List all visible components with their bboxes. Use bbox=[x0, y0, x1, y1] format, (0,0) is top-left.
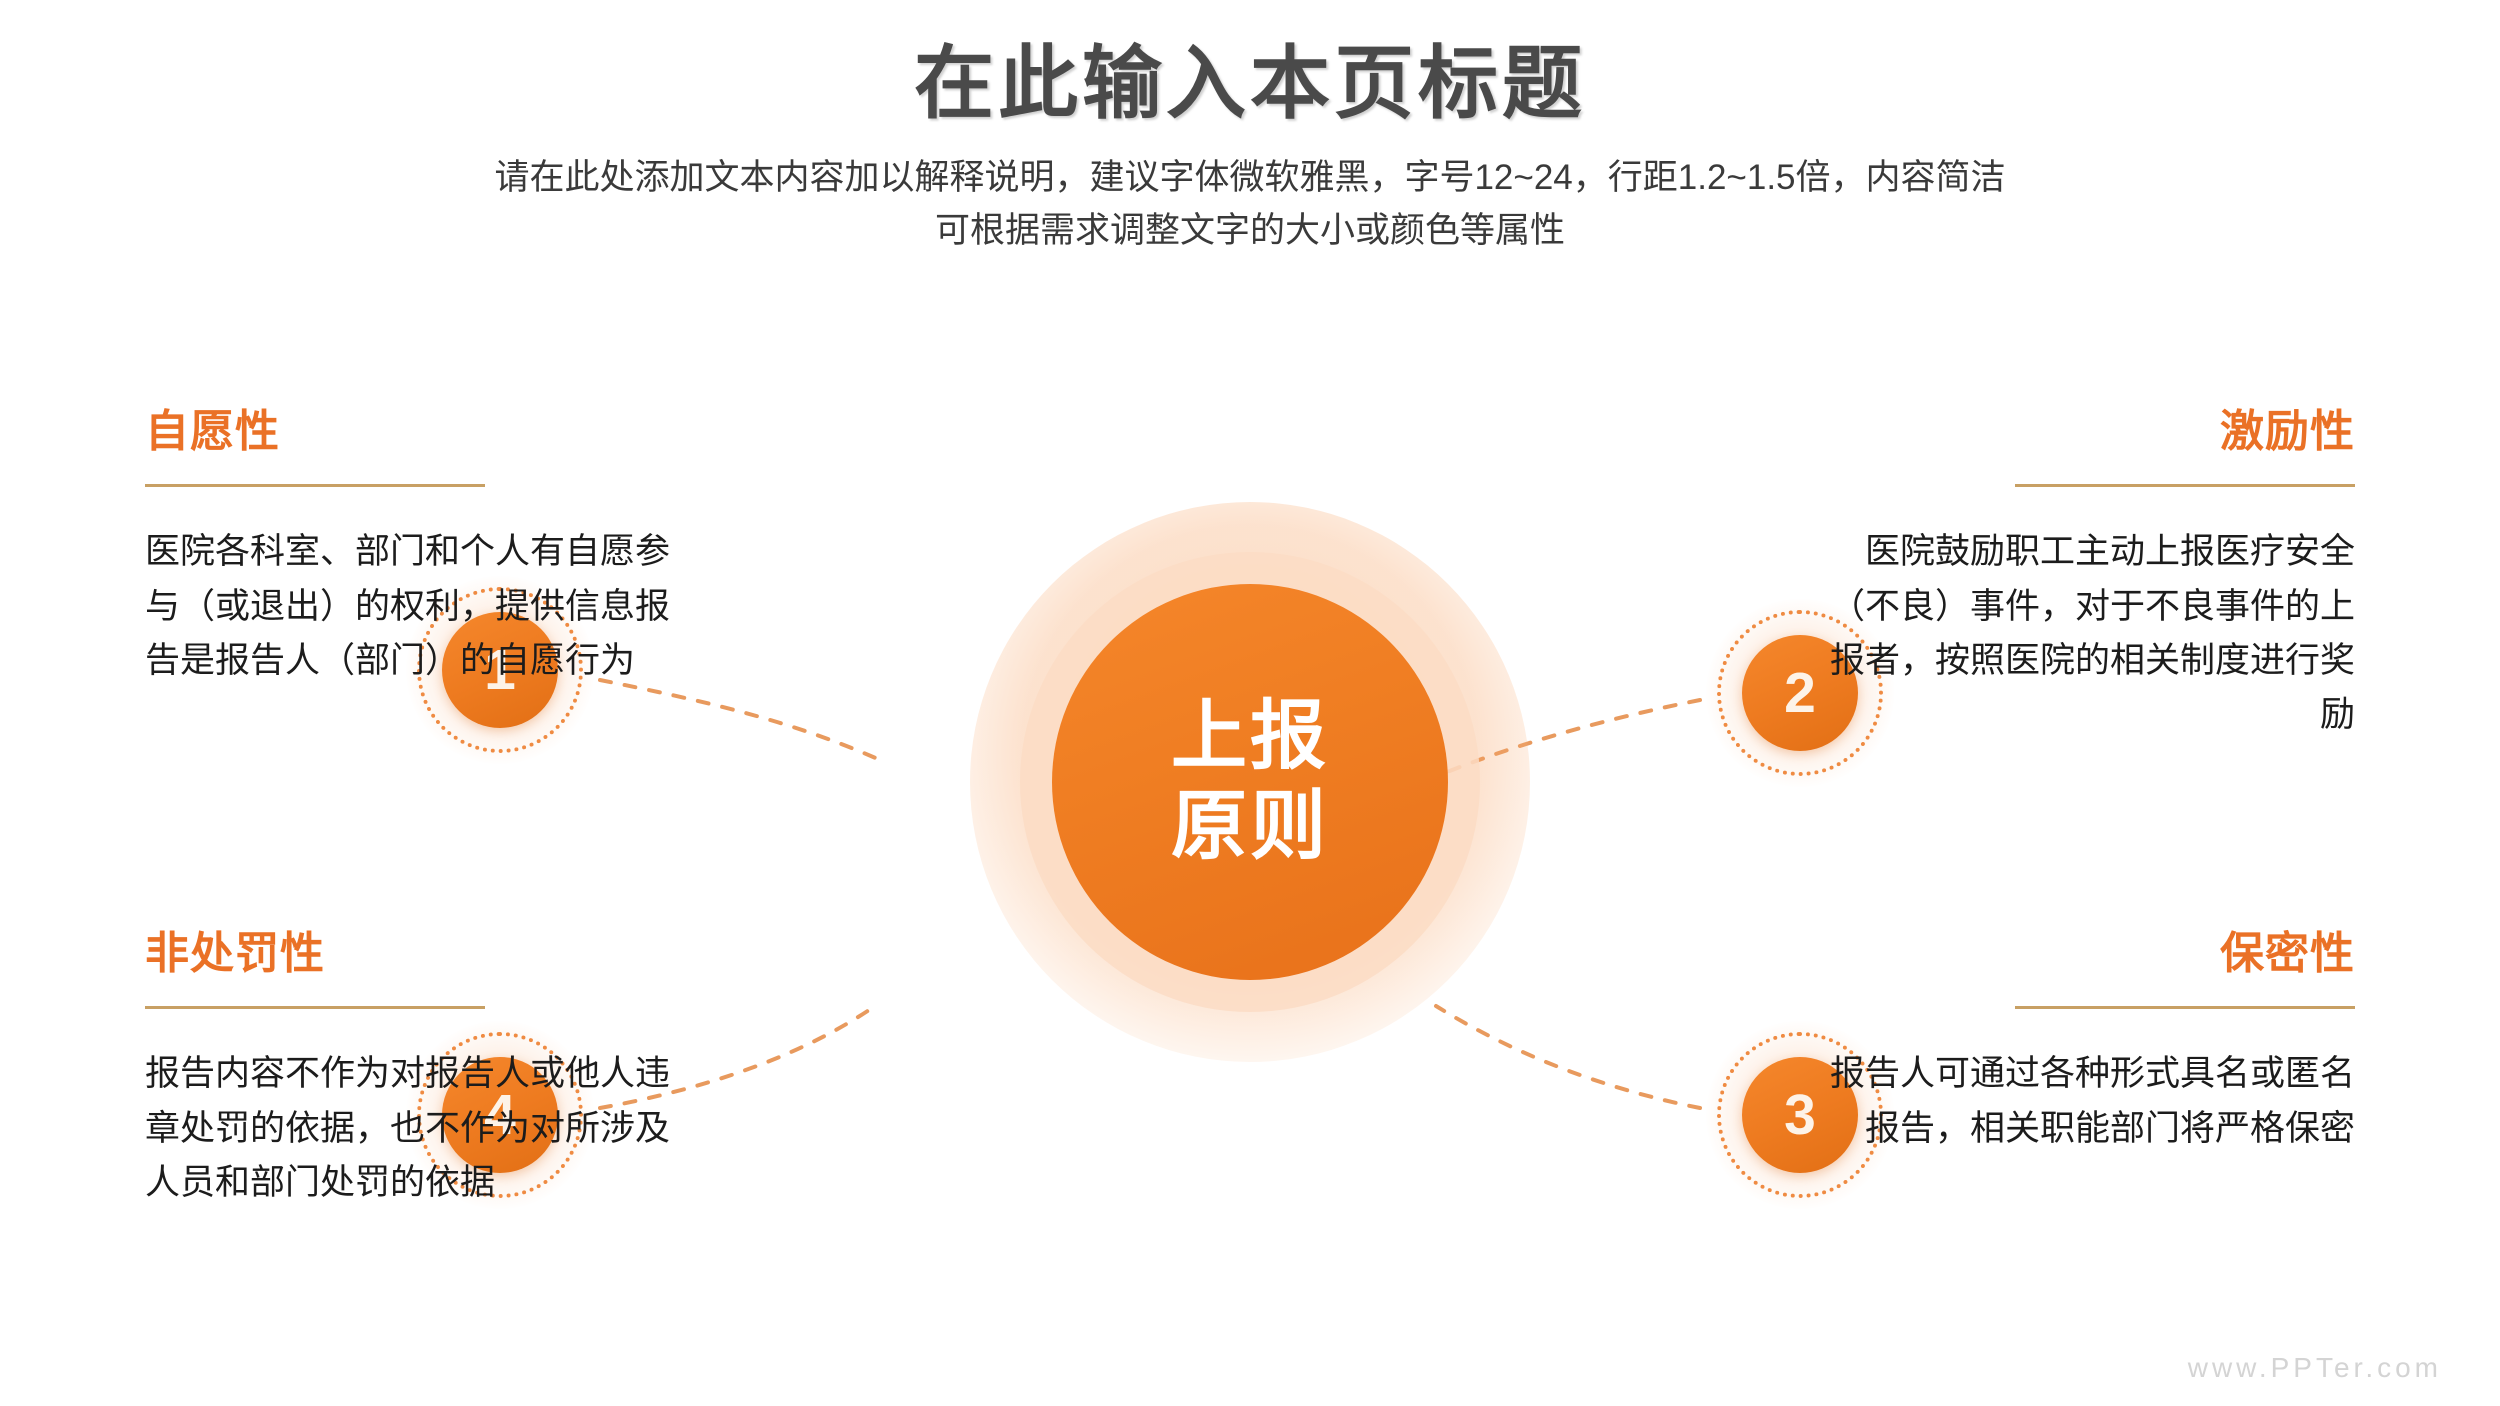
slide-header: 在此输入本页标题 请在此处添加文本内容加以解释说明，建议字体微软雅黑，字号12~… bbox=[0, 0, 2500, 257]
hub-core-circle: 上报 原则 bbox=[1052, 584, 1448, 980]
block-heading-1: 自愿性 bbox=[145, 408, 685, 456]
block-body-1: 医院各科室、部门和个人有自愿参与（或退出）的权利，提供信息报告是报告人（部门）的… bbox=[145, 525, 685, 688]
hub-label-line-2: 原则 bbox=[1171, 782, 1329, 872]
page-subtitle-line-1: 请在此处添加文本内容加以解释说明，建议字体微软雅黑，字号12~24，行距1.2~… bbox=[0, 152, 2500, 205]
block-divider-1 bbox=[145, 484, 485, 487]
block-body-4: 报告内容不作为对报告人或他人违章处罚的依据，也不作为对所涉及人员和部门处罚的依据 bbox=[145, 1047, 685, 1210]
page-subtitle: 请在此处添加文本内容加以解释说明，建议字体微软雅黑，字号12~24，行距1.2~… bbox=[0, 152, 2500, 257]
block-divider-2 bbox=[2015, 484, 2355, 487]
content-block-voluntary: 自愿性 医院各科室、部门和个人有自愿参与（或退出）的权利，提供信息报告是报告人（… bbox=[145, 408, 685, 688]
arc-badge-1 bbox=[600, 680, 880, 760]
content-block-confidentiality: 保密性 报告人可通过各种形式具名或匿名报告，相关职能部门将严格保密 bbox=[1815, 930, 2355, 1156]
block-heading-3: 保密性 bbox=[1815, 930, 2355, 978]
footer-watermark: www.PPTer.com bbox=[2188, 1352, 2442, 1384]
page-title: 在此输入本页标题 bbox=[0, 38, 2500, 130]
block-body-2: 医院鼓励职工主动上报医疗安全（不良）事件，对于不良事件的上报者，按照医院的相关制… bbox=[1815, 525, 2355, 742]
block-body-3: 报告人可通过各种形式具名或匿名报告，相关职能部门将严格保密 bbox=[1815, 1047, 2355, 1156]
center-hub: 上报 原则 bbox=[960, 492, 1540, 1072]
block-heading-4: 非处罚性 bbox=[145, 930, 685, 978]
badge-number-2: 2 bbox=[1784, 665, 1816, 722]
hub-label-line-1: 上报 bbox=[1171, 692, 1329, 782]
hub-label: 上报 原则 bbox=[1171, 692, 1329, 871]
page-subtitle-line-2: 可根据需求调整文字的大小或颜色等属性 bbox=[0, 205, 2500, 258]
content-block-incentive: 激励性 医院鼓励职工主动上报医疗安全（不良）事件，对于不良事件的上报者，按照医院… bbox=[1815, 408, 2355, 742]
block-divider-4 bbox=[145, 1006, 485, 1009]
block-heading-2: 激励性 bbox=[1815, 408, 2355, 456]
badge-number-3: 3 bbox=[1784, 1087, 1816, 1144]
content-block-non-punitive: 非处罚性 报告内容不作为对报告人或他人违章处罚的依据，也不作为对所涉及人员和部门… bbox=[145, 930, 685, 1210]
block-divider-3 bbox=[2015, 1006, 2355, 1009]
